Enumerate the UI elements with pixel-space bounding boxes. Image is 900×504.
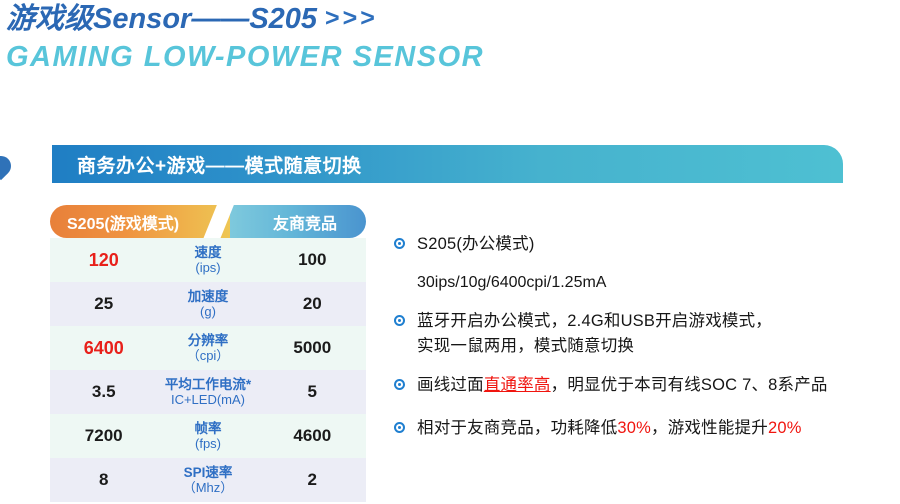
metric-unit: (ips)	[157, 260, 258, 275]
bullet-text-line1: 蓝牙开启办公模式，2.4G和USB开启游戏模式，	[417, 312, 772, 330]
cell-metric-label: 速度 (ips)	[157, 245, 258, 275]
cell-metric-label: 平均工作电流* IC+LED(mA)	[157, 377, 258, 407]
table-row: 8 SPI速率 （Mhz） 2	[50, 458, 366, 502]
bullet-text-suffix: ，明显优于本司有线SOC 7、8系产品	[551, 376, 828, 394]
metric-name: 速度	[157, 245, 258, 260]
bullet-text-highlight: 直通率高	[484, 376, 551, 394]
table-header-pills: S205(游戏模式) 友商竞品	[50, 205, 366, 238]
feature-bullet-list: S205(办公模式) 30ips/10g/6400cpi/1.25mA 蓝牙开启…	[394, 232, 894, 454]
metric-name: 加速度	[157, 289, 258, 304]
metric-unit: (g)	[157, 304, 258, 319]
title-line-chinese: 游戏级Sensor——S205>>>	[6, 2, 886, 37]
cell-own-value: 6400	[50, 338, 157, 359]
table-row: 3.5 平均工作电流* IC+LED(mA) 5	[50, 370, 366, 414]
metric-unit: （Mhz）	[157, 480, 258, 495]
page-title: 游戏级Sensor——S205>>> GAMING LOW-POWER SENS…	[6, 2, 886, 75]
metric-name: 分辨率	[157, 333, 258, 348]
cell-own-value: 7200	[50, 426, 157, 446]
cell-own-value: 8	[50, 470, 157, 490]
metric-name: SPI速率	[157, 465, 258, 480]
cell-rival-value: 100	[259, 250, 366, 270]
table-row: 120 速度 (ips) 100	[50, 238, 366, 282]
table-header-rival: 友商竞品	[230, 205, 366, 238]
bullet-text-middle: ，游戏性能提升	[651, 419, 768, 437]
cell-rival-value: 2	[259, 470, 366, 490]
cell-rival-value: 4600	[259, 426, 366, 446]
table-header-own: S205(游戏模式)	[50, 205, 230, 238]
bullet-ring-icon	[394, 379, 405, 390]
cell-own-value: 3.5	[50, 382, 157, 402]
list-item: S205(办公模式)	[394, 232, 894, 257]
cell-metric-label: 帧率 (fps)	[157, 421, 258, 451]
bullet-text: S205(办公模式)	[417, 235, 535, 253]
metric-unit: （cpi）	[157, 348, 258, 363]
cell-own-value: 120	[50, 250, 157, 271]
bullet-detail-text: 30ips/10g/6400cpi/1.25mA	[394, 270, 894, 295]
metric-name: 平均工作电流*	[157, 377, 258, 392]
section-banner: 商务办公+游戏——模式随意切换	[52, 145, 843, 183]
cell-metric-label: 分辨率 （cpi）	[157, 333, 258, 363]
metric-unit: IC+LED(mA)	[157, 392, 258, 407]
metric-unit: (fps)	[157, 436, 258, 451]
cell-rival-value: 5000	[259, 338, 366, 358]
decorative-diamond-icon	[0, 152, 15, 180]
bullet-text: 相对于友商竞品，功耗降低30%，游戏性能提升20%	[417, 419, 802, 437]
bullet-ring-icon	[394, 315, 405, 326]
cell-own-value: 25	[50, 294, 157, 314]
bullet-text-prefix: 画线过面	[417, 376, 484, 394]
table-row: 25 加速度 (g) 20	[50, 282, 366, 326]
bullet-text-line2: 实现一鼠两用，模式随意切换	[417, 334, 894, 359]
table-header-rival-label: 友商竞品	[273, 210, 337, 234]
section-banner-title: 商务办公+游戏——模式随意切换	[52, 151, 362, 178]
title-line-english: GAMING LOW-POWER SENSOR	[6, 39, 886, 75]
comparison-table: S205(游戏模式) 友商竞品 120 速度 (ips) 100 25 加速度 …	[50, 205, 366, 502]
table-row: 6400 分辨率 （cpi） 5000	[50, 326, 366, 370]
list-item: 蓝牙开启办公模式，2.4G和USB开启游戏模式， 实现一鼠两用，模式随意切换	[394, 309, 894, 359]
cell-metric-label: 加速度 (g)	[157, 289, 258, 319]
table-row: 7200 帧率 (fps) 4600	[50, 414, 366, 458]
bullet-ring-icon	[394, 238, 405, 249]
cell-metric-label: SPI速率 （Mhz）	[157, 465, 258, 495]
title-chinese-text: 游戏级Sensor——S205	[6, 3, 317, 35]
bullet-text: 画线过面直通率高，明显优于本司有线SOC 7、8系产品	[417, 376, 828, 394]
bullet-ring-icon	[394, 422, 405, 433]
bullet-text-highlight-performance: 20%	[768, 419, 802, 437]
bullet-text-highlight-power: 30%	[617, 419, 651, 437]
chevron-right-icon: >>>	[317, 4, 378, 32]
list-item: 画线过面直通率高，明显优于本司有线SOC 7、8系产品	[394, 373, 894, 398]
metric-name: 帧率	[157, 421, 258, 436]
cell-rival-value: 5	[259, 382, 366, 402]
table-header-own-label: S205(游戏模式)	[67, 210, 179, 234]
cell-rival-value: 20	[259, 294, 366, 314]
list-item: 相对于友商竞品，功耗降低30%，游戏性能提升20%	[394, 416, 894, 441]
bullet-text-prefix: 相对于友商竞品，功耗降低	[417, 419, 617, 437]
